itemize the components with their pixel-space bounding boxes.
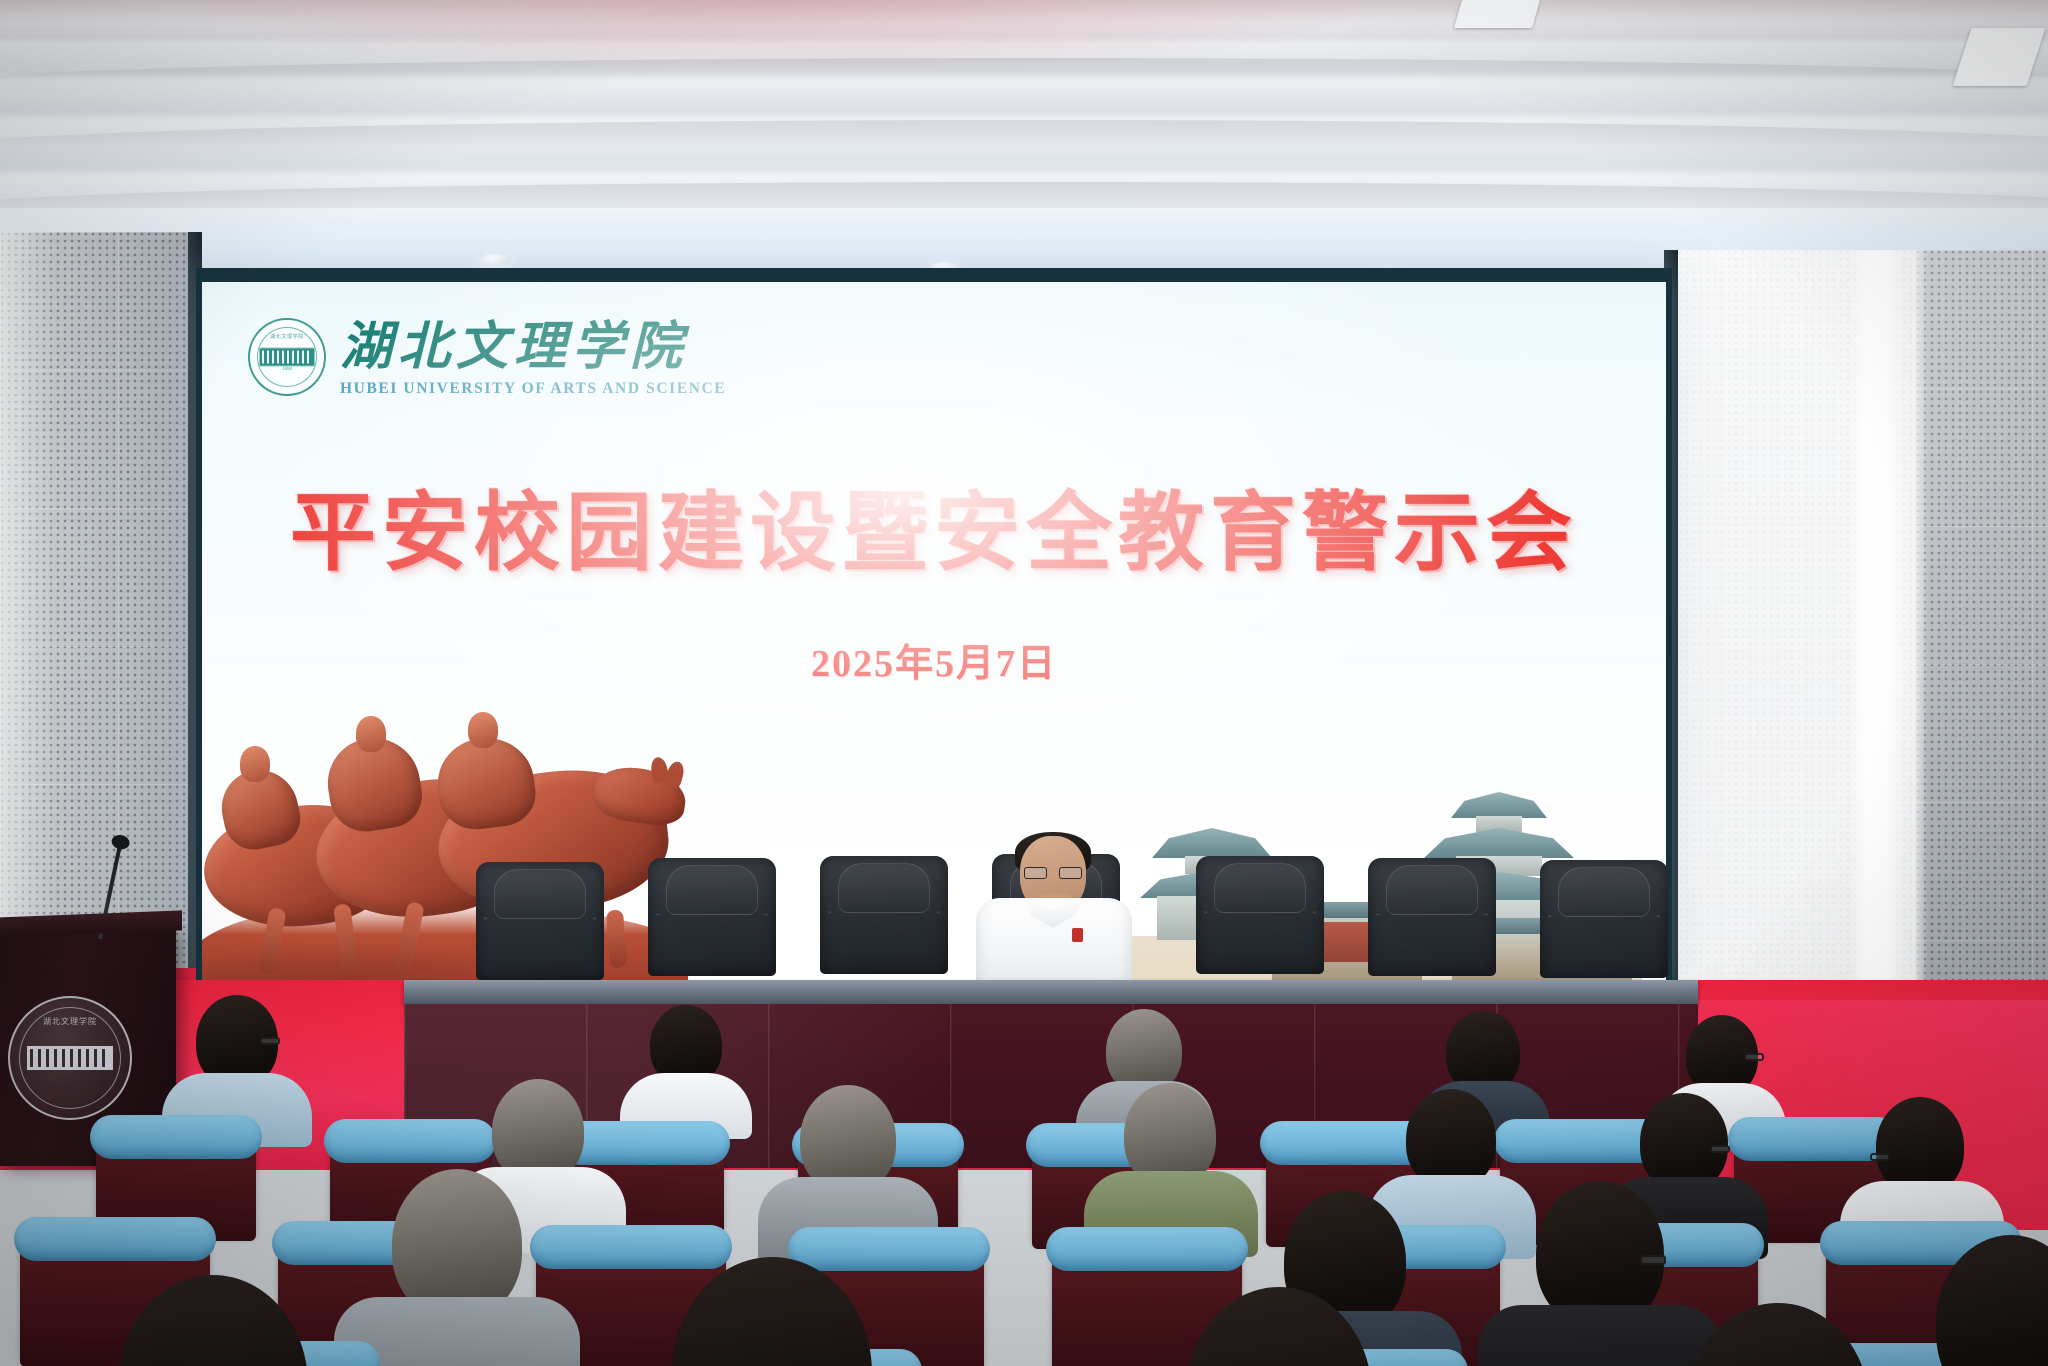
- logo-wordmark: 湖北文理学院 HUBEI UNIVERSITY OF ARTS AND SCIE…: [340, 318, 726, 398]
- audience-area: [0, 1035, 2048, 1366]
- rider-head: [468, 712, 498, 748]
- seal-year: 1958: [250, 366, 324, 371]
- conference-hall-scene: 湖北文理学院 1958 湖北文理学院 HUBEI UNIVERSITY OF A…: [0, 0, 2048, 1366]
- relief-sculpture-graphic: [202, 728, 688, 988]
- rider-head: [356, 716, 386, 752]
- conference-chair[interactable]: [1368, 858, 1496, 976]
- person-head: [1406, 1089, 1496, 1189]
- pagoda-roof: [1451, 792, 1547, 818]
- rider-head: [240, 746, 270, 782]
- lectern-seal-top-text: 湖北文理学院: [10, 1016, 130, 1027]
- ceiling-band: [0, 120, 2048, 148]
- seat-headrest: [14, 1217, 216, 1261]
- seat-headrest: [1046, 1227, 1248, 1271]
- wall-light-wash: [0, 232, 188, 980]
- acoustic-wall-right: [1678, 250, 2048, 1080]
- seat-headrest: [90, 1115, 262, 1159]
- glasses-icon: [260, 1037, 280, 1045]
- conference-chair[interactable]: [1540, 860, 1668, 978]
- ceiling-band: [0, 182, 2048, 208]
- acoustic-wall-left: [0, 232, 188, 980]
- conference-chair[interactable]: [1196, 856, 1324, 974]
- logo-name-cn: 湖北文理学院: [340, 320, 726, 373]
- glasses-icon: [1870, 1153, 1890, 1161]
- person-shoulders: [1478, 1305, 1722, 1366]
- slide-date: 2025年5月7日: [202, 632, 1666, 687]
- slide-title: 平安校园建设暨安全教育警示会: [202, 462, 1666, 587]
- conference-chair[interactable]: [820, 856, 948, 974]
- university-seal-icon: 湖北文理学院 1958: [248, 318, 326, 396]
- glasses-icon: [1710, 1145, 1730, 1153]
- university-logo: 湖北文理学院 1958 湖北文理学院 HUBEI UNIVERSITY OF A…: [248, 318, 726, 398]
- horse-leg: [606, 909, 627, 968]
- ceiling-vent: [1454, 0, 1540, 28]
- conference-chair[interactable]: [476, 862, 604, 980]
- seated-speaker: [968, 836, 1140, 996]
- seat-headrest: [324, 1119, 496, 1163]
- glasses-icon: [1024, 867, 1082, 879]
- horse-ear: [664, 760, 687, 789]
- seal-center-block: [260, 349, 314, 366]
- ceiling: [0, 0, 2048, 232]
- pagoda-roof: [1424, 828, 1574, 858]
- seat-headrest: [530, 1225, 732, 1269]
- seat-headrest: [788, 1227, 990, 1271]
- downlight: [480, 254, 510, 267]
- seal-top-text: 湖北文理学院: [250, 333, 324, 340]
- pagoda-roof: [1152, 828, 1272, 858]
- name-badge: [1072, 928, 1083, 942]
- logo-name-en: HUBEI UNIVERSITY OF ARTS AND SCIENCE: [340, 380, 726, 398]
- glasses-icon: [1744, 1053, 1764, 1061]
- horse-head: [590, 763, 689, 829]
- conference-chair[interactable]: [648, 858, 776, 976]
- glasses-icon: [1640, 1255, 1666, 1265]
- wall-light-wash: [1678, 250, 2048, 1080]
- head-table-top: [404, 980, 1698, 1006]
